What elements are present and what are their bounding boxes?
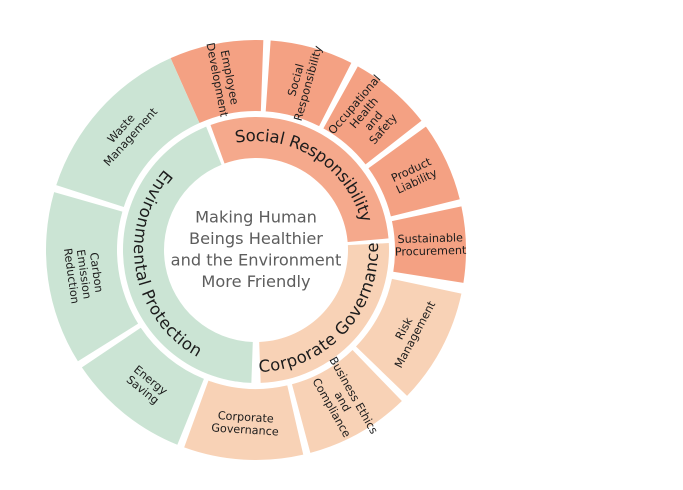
center-label-group: Making HumanBeings Healthierand the Envi…	[171, 207, 342, 291]
sunburst-chart: Social ResponsibilityCorporate Governanc…	[0, 0, 683, 490]
center-statement: Making HumanBeings Healthierand the Envi…	[171, 207, 342, 291]
outer-label-corporate-governance-outer: CorporateGovernance	[211, 409, 280, 439]
diagram-canvas: Social ResponsibilityCorporate Governanc…	[0, 0, 683, 490]
outer-label-sustainable-procurement: SustainableProcurement	[394, 231, 467, 258]
